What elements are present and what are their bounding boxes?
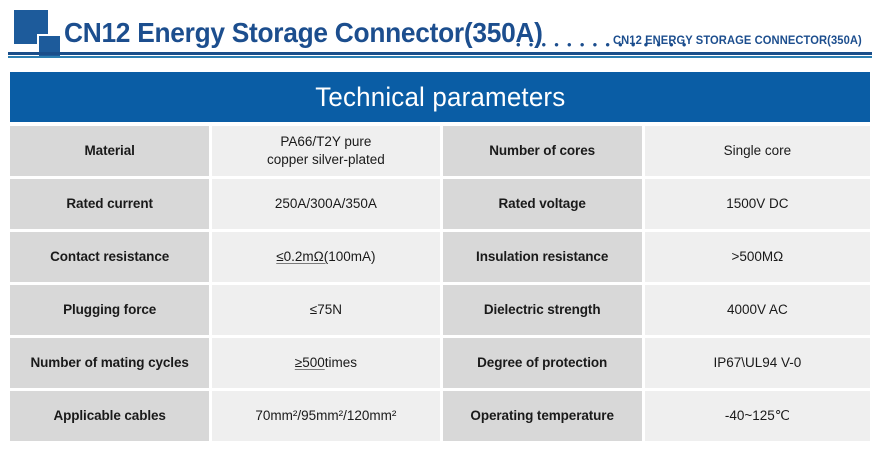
page-header: CN12 Energy Storage Connector(350A) • • … xyxy=(0,0,880,64)
cell-label-right: Dielectric strength xyxy=(443,285,642,335)
cell-label-left: Number of mating cycles xyxy=(10,338,209,388)
cell-value-left: 70mm²/95mm²/120mm² xyxy=(212,391,439,441)
cell-value-left: PA66/T2Y purecopper silver-plated xyxy=(212,126,439,176)
specifications-table: MaterialPA66/T2Y purecopper silver-plate… xyxy=(10,126,870,441)
cell-value-left: 250A/300A/350A xyxy=(212,179,439,229)
cell-label-left: Applicable cables xyxy=(10,391,209,441)
cell-label-right: Insulation resistance xyxy=(443,232,642,282)
cell-value-right: IP67\UL94 V-0 xyxy=(645,338,870,388)
cell-value-right: -40~125℃ xyxy=(645,391,870,441)
table-row: Number of mating cycles≥500 timesDegree … xyxy=(10,338,870,388)
cell-label-left: Material xyxy=(10,126,209,176)
underlined-text: ≤0.2mΩ( xyxy=(276,248,328,266)
underlined-text: ≥500 xyxy=(295,354,325,372)
page-title: CN12 Energy Storage Connector(350A) xyxy=(64,17,543,49)
cell-value-left: ≥500 times xyxy=(212,338,439,388)
header-rule-light xyxy=(8,56,872,58)
table-row: Rated current250A/300A/350ARated voltage… xyxy=(10,179,870,229)
table-row: Plugging force≤75NDielectric strength400… xyxy=(10,285,870,335)
technical-parameters-banner: Technical parameters xyxy=(10,72,870,122)
table-row: MaterialPA66/T2Y purecopper silver-plate… xyxy=(10,126,870,176)
cell-value-right: 4000V AC xyxy=(645,285,870,335)
table-row: Contact resistance≤0.2mΩ(100mA)Insulatio… xyxy=(10,232,870,282)
cell-label-right: Degree of protection xyxy=(443,338,642,388)
company-logo xyxy=(14,10,70,56)
cell-label-left: Contact resistance xyxy=(10,232,209,282)
cell-label-right: Operating temperature xyxy=(443,391,642,441)
cell-label-left: Rated current xyxy=(10,179,209,229)
cell-label-left: Plugging force xyxy=(10,285,209,335)
cell-value-right: 1500V DC xyxy=(645,179,870,229)
page-subtitle: CN12 ENERGY STORAGE CONNECTOR(350A) xyxy=(613,35,862,47)
cell-label-right: Number of cores xyxy=(443,126,642,176)
cell-value-right: Single core xyxy=(645,126,870,176)
cell-value-right: >500MΩ xyxy=(645,232,870,282)
cell-value-left: ≤75N xyxy=(212,285,439,335)
cell-label-right: Rated voltage xyxy=(443,179,642,229)
table-row: Applicable cables70mm²/95mm²/120mm²Opera… xyxy=(10,391,870,441)
cell-value-left: ≤0.2mΩ(100mA) xyxy=(212,232,439,282)
header-rule-dark xyxy=(8,52,872,55)
banner-title: Technical parameters xyxy=(315,82,565,113)
